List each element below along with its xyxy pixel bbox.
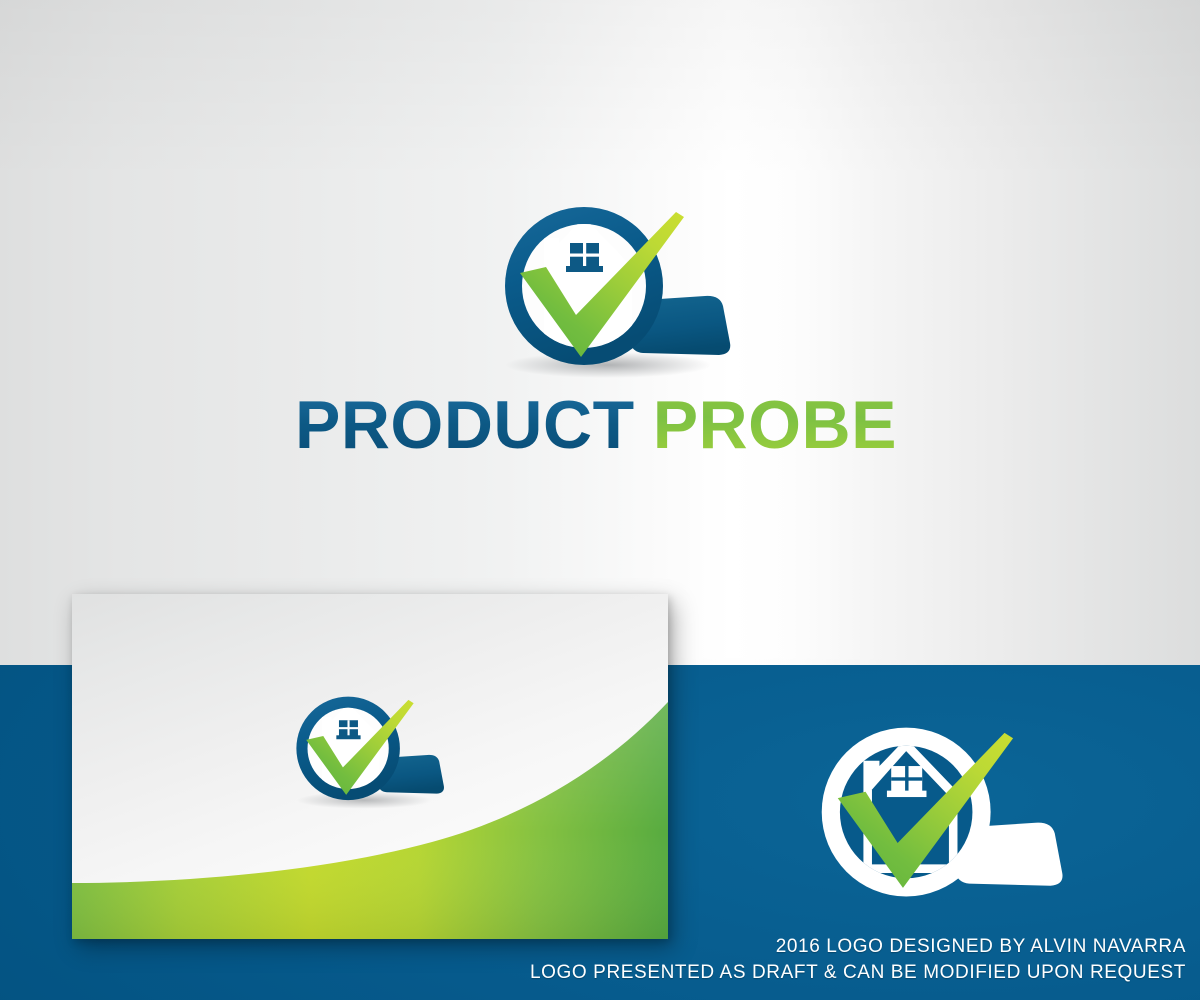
credits-block: 2016 LOGO DESIGNED BY ALVIN NAVARRA LOGO… bbox=[0, 934, 1200, 986]
wordmark-probe: PROBE bbox=[653, 387, 897, 463]
brand-wordmark: PRODUCTPROBE bbox=[276, 391, 916, 459]
wordmark-product: PRODUCT bbox=[295, 387, 635, 463]
business-card-mockup bbox=[72, 594, 668, 939]
presentation-canvas: PRODUCTPROBE bbox=[0, 0, 1200, 1000]
reversed-house-magnifier-check-icon bbox=[795, 712, 1105, 927]
house-magnifier-check-icon bbox=[480, 193, 770, 393]
primary-logo-lockup: PRODUCTPROBE bbox=[276, 193, 916, 478]
credit-line-designer: 2016 LOGO DESIGNED BY ALVIN NAVARRA bbox=[0, 934, 1186, 960]
card-house-magnifier-check-icon bbox=[280, 687, 470, 819]
credit-line-draft-notice: LOGO PRESENTED AS DRAFT & CAN BE MODIFIE… bbox=[0, 960, 1186, 986]
